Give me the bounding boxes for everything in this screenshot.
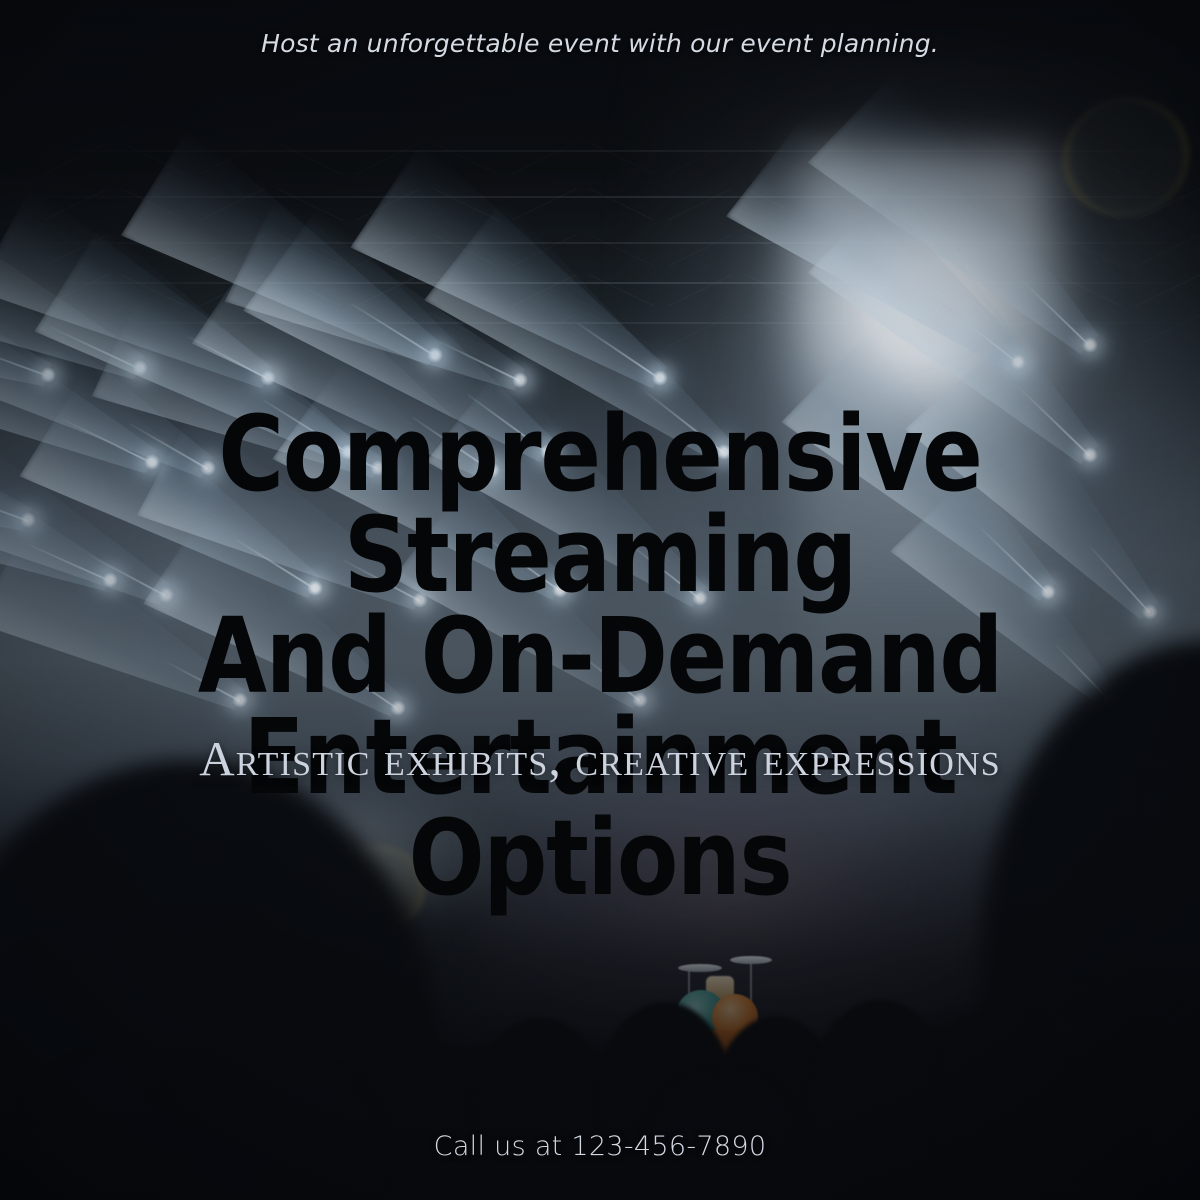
- tagline: Host an unforgettable event with our eve…: [0, 29, 1200, 58]
- poster-text-layer: Host an unforgettable event with our eve…: [0, 0, 1200, 1200]
- event-poster: Host an unforgettable event with our eve…: [0, 0, 1200, 1200]
- contact-phone: Call us at 123-456-7890: [0, 1131, 1200, 1162]
- subtitle: Artistic exhibits, creative expressions: [0, 730, 1200, 787]
- page-title: Comprehensive Streaming And On-Demand En…: [84, 404, 1116, 908]
